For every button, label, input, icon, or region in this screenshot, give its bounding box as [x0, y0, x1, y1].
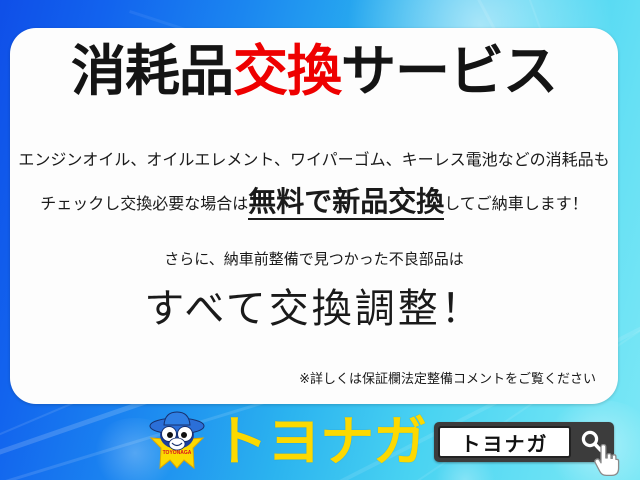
- title-highlight: 交換: [233, 40, 341, 102]
- footnote-text: ※詳しくは保証欄法定整備コメントをご覧ください: [299, 368, 596, 387]
- line2-emphasis: 無料で新品交換: [248, 186, 444, 220]
- headline-secondary: すべて交換調整！: [10, 276, 618, 334]
- line2-suffix: してご納車します！: [444, 196, 588, 213]
- search-widget[interactable]: トヨナガ: [434, 422, 614, 462]
- description-line-1: エンジンオイル、オイルエレメント、ワイパーゴム、キーレス電池などの消耗品も: [10, 146, 618, 170]
- description-line-3: さらに、納車前整備で見つかった不良部品は: [10, 248, 618, 269]
- description-line-2: チェックし交換必要な場合は無料で新品交換してご納車します！: [10, 180, 618, 220]
- content-panel: 消耗品交換サービス エンジンオイル、オイルエレメント、ワイパーゴム、キーレス電池…: [10, 28, 618, 404]
- mascot-character-icon: TOYONAGA: [146, 408, 208, 476]
- pointing-hand-cursor-icon: [592, 444, 620, 478]
- title-part-1: 消耗品: [71, 40, 233, 102]
- search-input[interactable]: トヨナガ: [438, 426, 571, 458]
- brand-logo-text: トヨナガ: [214, 412, 426, 472]
- promotional-banner: 消耗品交換サービス エンジンオイル、オイルエレメント、ワイパーゴム、キーレス電池…: [0, 0, 640, 480]
- line2-prefix: チェックし交換必要な場合は: [40, 196, 248, 213]
- mascot-label: TOYONAGA: [163, 450, 192, 456]
- title-part-2: サービス: [341, 40, 557, 102]
- page-title: 消耗品交換サービス: [10, 44, 618, 99]
